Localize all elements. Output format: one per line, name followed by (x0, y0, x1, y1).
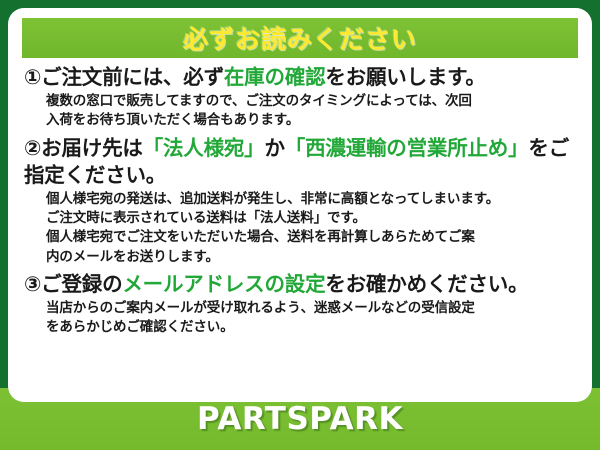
section-2-heading-highlight-a: 「法人様宛」 (143, 136, 265, 160)
notice-sections: ①ご注文前には、必ず在庫の確認をお願いします。 複数の窓口で販売してますので、ご… (22, 58, 578, 337)
section-2-heading-highlight-b: 「西濃運輸の営業所止め」 (285, 136, 529, 160)
section-1-heading-highlight-a: 在庫の確認 (224, 65, 326, 89)
section-2-body-line-1: 個人様宅宛の発送は、追加送料が発生し、非常に高額となってしまいます。 (46, 190, 578, 209)
section-1-heading-text-a: ご注文前には、必ず (41, 65, 224, 89)
section-1-marker: ① (24, 65, 41, 89)
brand-logo-partspark: PARTSPARK (197, 401, 403, 437)
section-2-heading-text-b: か (264, 136, 284, 160)
section-3-body: 当店からのご案内メールが受け取れるよう、迷惑メールなどの受信設定 をあらかじめご… (24, 298, 578, 337)
section-3-heading: ③ご登録のメールアドレスの設定をお確かめください。 (24, 271, 578, 298)
section-3-body-line-2: をあらかじめご確認ください。 (46, 318, 578, 337)
section-2-heading: ②お届け先は「法人様宛」か「西濃運輸の営業所止め」をご指定ください。 (24, 135, 578, 190)
notice-section-1: ①ご注文前には、必ず在庫の確認をお願いします。 複数の窓口で販売してますので、ご… (24, 64, 578, 131)
section-3-marker: ③ (24, 272, 41, 296)
notice-card: 必ずお読みください ①ご注文前には、必ず在庫の確認をお願いします。 複数の窓口で… (8, 8, 592, 402)
section-3-heading-text-a: ご登録の (41, 272, 122, 296)
notice-section-2: ②お届け先は「法人様宛」か「西濃運輸の営業所止め」をご指定ください。 個人様宅宛… (24, 135, 578, 267)
notice-frame: 必ずお読みください ①ご注文前には、必ず在庫の確認をお願いします。 複数の窓口で… (0, 0, 600, 450)
section-3-heading-highlight-a: メールアドレスの設定 (122, 272, 325, 296)
header-banner: 必ずお読みください (22, 18, 578, 58)
section-2-marker: ② (24, 136, 41, 160)
section-2-heading-text-a: お届け先は (41, 136, 143, 160)
section-1-body-line-2: 入荷をお待ち頂いただく場合もあります。 (46, 111, 578, 130)
section-1-body: 複数の窓口で販売してますので、ご注文のタイミングによっては、次回 入荷をお待ち頂… (24, 91, 578, 130)
section-1-heading-text-b: をお願いします。 (325, 65, 485, 89)
notice-section-3: ③ご登録のメールアドレスの設定をお確かめください。 当店からのご案内メールが受け… (24, 271, 578, 338)
section-2-body-line-3: 個人様宅宛でご注文をいただいた場合、送料を再計算しあらためてご案 (46, 228, 578, 247)
section-1-heading: ①ご注文前には、必ず在庫の確認をお願いします。 (24, 64, 578, 91)
section-2-body-line-4: 内のメールをお送りします。 (46, 248, 578, 267)
header-title: 必ずお読みください (183, 20, 417, 56)
section-1-body-line-1: 複数の窓口で販売してますので、ご注文のタイミングによっては、次回 (46, 92, 578, 111)
section-3-body-line-1: 当店からのご案内メールが受け取れるよう、迷惑メールなどの受信設定 (46, 299, 578, 318)
section-2-body: 個人様宅宛の発送は、追加送料が発生し、非常に高額となってしまいます。 ご注文時に… (24, 189, 578, 267)
section-2-body-line-2: ご注文時に表示されている送料は「法人送料」です。 (46, 209, 578, 228)
section-3-heading-text-b: をお確かめください。 (325, 272, 528, 296)
